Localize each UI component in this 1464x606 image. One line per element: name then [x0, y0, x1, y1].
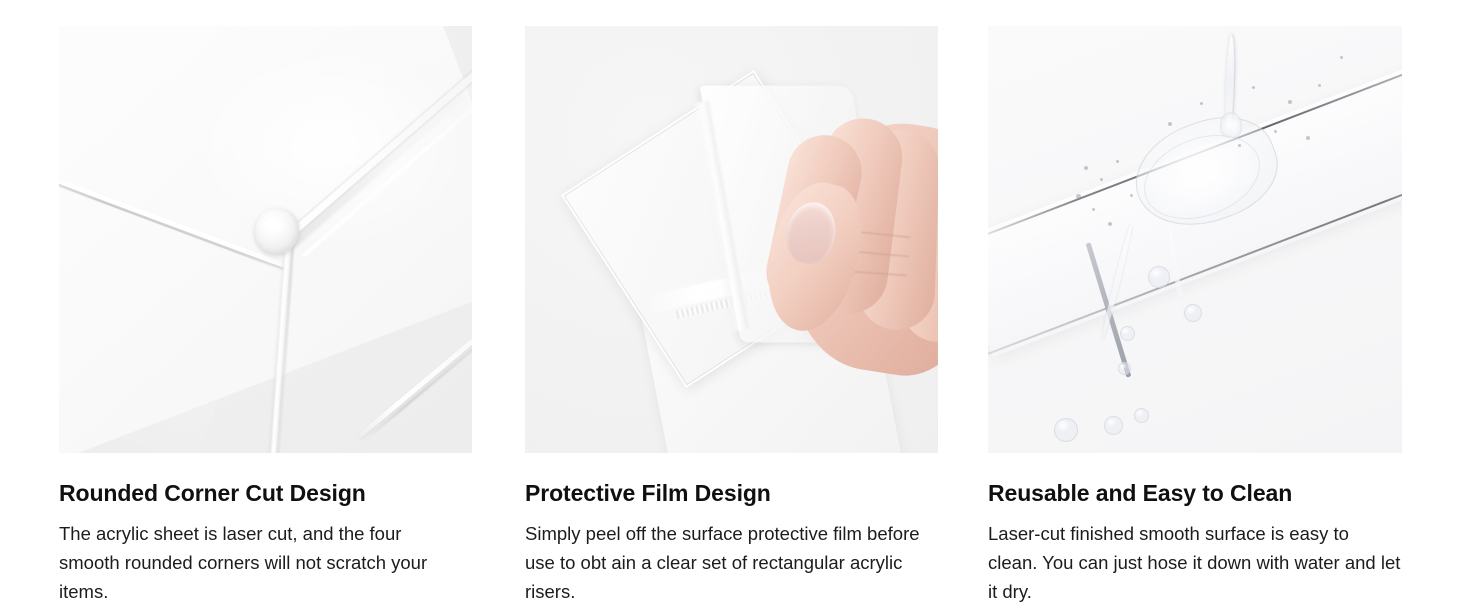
water-speck: [1076, 194, 1081, 199]
water-droplet: [1118, 362, 1131, 375]
feature-body: The acrylic sheet is laser cut, and the …: [59, 519, 459, 606]
water-droplet: [1054, 418, 1078, 442]
feature-column-2: Protective Film Design Simply peel off t…: [525, 26, 938, 606]
water-droplet: [1134, 408, 1149, 423]
photo-2-stage: [525, 26, 938, 453]
photo-1-stage: [59, 26, 472, 453]
water-speck: [1274, 130, 1277, 133]
feature-caption-2: Protective Film Design Simply peel off t…: [525, 453, 938, 606]
water-speck: [1306, 136, 1310, 140]
water-speck: [1252, 86, 1255, 89]
feature-grid: Rounded Corner Cut Design The acrylic sh…: [0, 0, 1464, 600]
feature-title: Reusable and Easy to Clean: [988, 479, 1402, 507]
water-stream-impact: [1220, 112, 1242, 138]
feature-body: Laser-cut finished smooth surface is eas…: [988, 519, 1402, 606]
water-speck: [1340, 56, 1343, 59]
water-droplet: [1184, 304, 1202, 322]
feature-caption-3: Reusable and Easy to Clean Laser-cut fin…: [988, 453, 1402, 606]
feature-body: Simply peel off the surface protective f…: [525, 519, 925, 606]
water-speck: [1100, 178, 1103, 181]
feature-title: Rounded Corner Cut Design: [59, 479, 472, 507]
water-speck: [1288, 100, 1292, 104]
photo-3-stage: [988, 26, 1402, 453]
water-rinsing-acrylic-photo: [988, 26, 1402, 453]
water-speck: [1084, 166, 1088, 170]
water-speck: [1318, 84, 1321, 87]
feature-title: Protective Film Design: [525, 479, 938, 507]
water-speck: [1092, 208, 1095, 211]
water-speck: [1200, 102, 1203, 105]
hand: [525, 26, 938, 453]
water-droplet: [1120, 326, 1135, 341]
water-speck: [1168, 122, 1172, 126]
rounded-corner-highlight: [264, 218, 282, 232]
feature-caption-1: Rounded Corner Cut Design The acrylic sh…: [59, 453, 472, 606]
feature-column-3: Reusable and Easy to Clean Laser-cut fin…: [988, 26, 1402, 606]
water-speck: [1238, 144, 1241, 147]
acrylic-box-corner-photo: [59, 26, 472, 453]
water-speck: [1116, 160, 1119, 163]
water-droplet: [1148, 266, 1170, 288]
water-speck: [1130, 194, 1133, 197]
feature-column-1: Rounded Corner Cut Design The acrylic sh…: [59, 26, 472, 606]
water-droplet: [1104, 416, 1123, 435]
water-speck: [1108, 222, 1112, 226]
peeling-protective-film-photo: [525, 26, 938, 453]
